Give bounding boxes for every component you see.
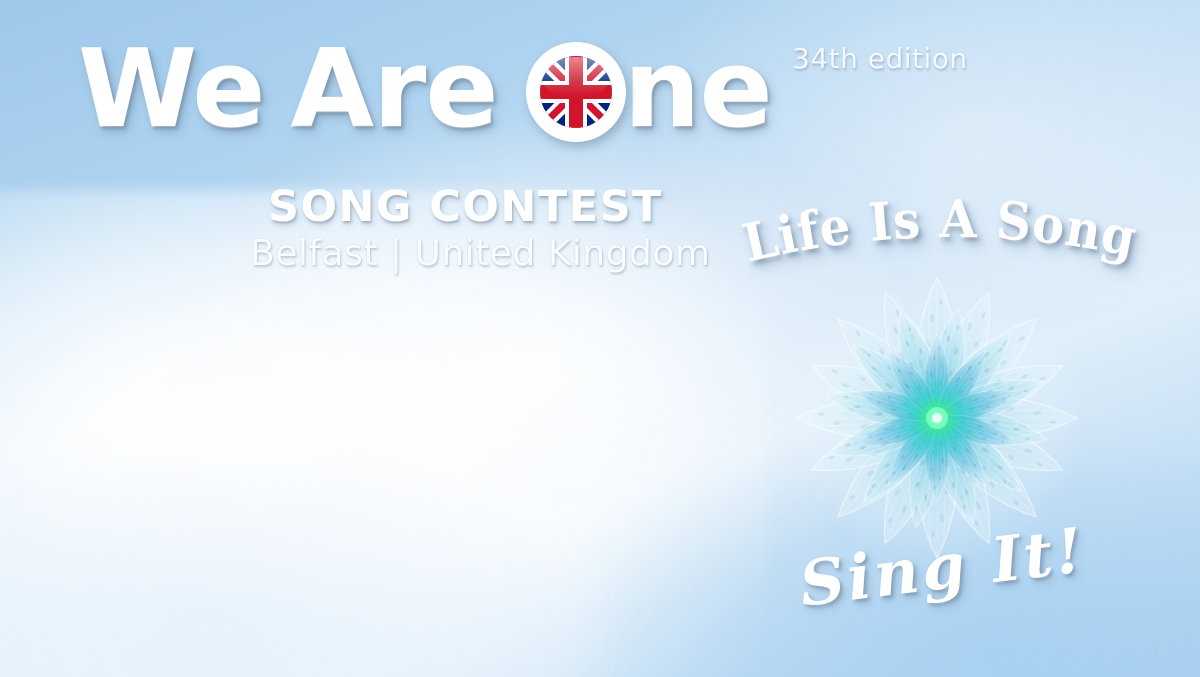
title-block: WeAre [78, 36, 868, 144]
edition-label: 34th edition [792, 42, 968, 75]
poster-canvas: WeAre [0, 0, 1200, 677]
background-tint-bottom-left [0, 460, 576, 677]
title-word-one-suffix: ne [624, 36, 772, 144]
title-word-are: Are [291, 36, 498, 144]
page-title: WeAre [78, 36, 868, 144]
subtitle-song-contest: SONG CONTEST [268, 182, 663, 232]
title-word-we: We [78, 36, 265, 144]
location-label: Belfast | United Kingdom [250, 233, 710, 274]
flag-disc [540, 56, 612, 128]
union-jack-flag-icon [526, 42, 626, 142]
